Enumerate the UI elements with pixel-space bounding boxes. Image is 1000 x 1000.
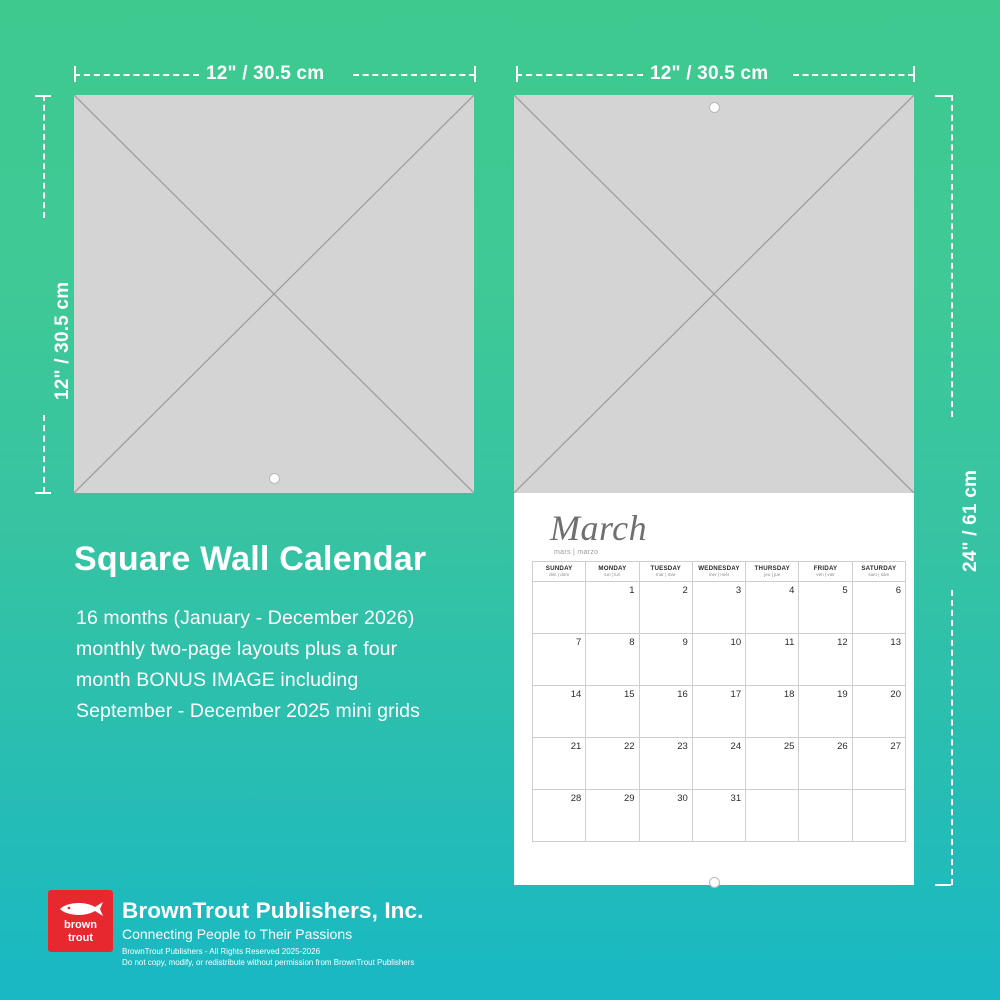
right-panel-punch-hole-icon [709, 102, 720, 113]
trout-fish-icon [57, 900, 105, 918]
day-number: 19 [837, 689, 848, 700]
right-height-cap-bottom [935, 884, 951, 886]
day-number: 2 [683, 585, 688, 596]
logo-word-brown: brown [64, 920, 97, 931]
left-width-cap-end [474, 66, 476, 82]
calendar-day-cell[interactable]: 27 [852, 738, 905, 790]
day-number: 28 [571, 793, 582, 804]
weekday-sub: mer | miér [693, 572, 745, 578]
day-number: 3 [736, 585, 741, 596]
calendar-weekday-saturday: SATURDAY sam | sám [852, 562, 905, 582]
left-width-dash-right [353, 74, 475, 76]
calendar-weekday-thursday: THURSDAY jeu | jue [746, 562, 799, 582]
calendar-day-cell[interactable]: 8 [586, 634, 639, 686]
calendar-day-cell[interactable]: 12 [799, 634, 852, 686]
calendar-day-cell[interactable]: 24 [692, 738, 745, 790]
day-number: 12 [837, 637, 848, 648]
day-number: 5 [842, 585, 847, 596]
calendar-day-cell[interactable]: 22 [586, 738, 639, 790]
day-number: 9 [683, 637, 688, 648]
day-number: 6 [896, 585, 901, 596]
calendar-day-cell[interactable] [533, 582, 586, 634]
calendar-week-row: 1 2 3 4 5 6 [533, 582, 906, 634]
day-number: 11 [785, 637, 795, 648]
calendar-day-cell[interactable]: 5 [799, 582, 852, 634]
calendar-weekday-monday: MONDAY lun | lun [586, 562, 639, 582]
right-width-dash-right [793, 74, 914, 76]
calendar-day-cell[interactable] [799, 790, 852, 842]
left-panel-punch-hole-icon [269, 473, 280, 484]
weekday-sub: jeu | jue [746, 572, 798, 578]
day-number: 8 [629, 637, 634, 648]
calendar-week-row: 7 8 9 10 11 12 13 [533, 634, 906, 686]
calendar-weekday-sunday: SUNDAY dim | dom [533, 562, 586, 582]
calendar-day-cell[interactable]: 1 [586, 582, 639, 634]
calendar-day-cell[interactable] [746, 790, 799, 842]
publisher-name: BrownTrout Publishers, Inc. [122, 898, 423, 924]
day-number: 30 [677, 793, 688, 804]
weekday-name: FRIDAY [799, 565, 851, 572]
description-line-3: month BONUS IMAGE including [76, 665, 358, 696]
description-line-1: 16 months (January - December 2026) [76, 603, 414, 634]
publisher-tagline: Connecting People to Their Passions [122, 926, 352, 942]
weekday-name: WEDNESDAY [693, 565, 745, 572]
calendar-day-cell[interactable]: 26 [799, 738, 852, 790]
calendar-week-row: 28 29 30 31 [533, 790, 906, 842]
weekday-sub: ven | vier [799, 572, 851, 578]
calendar-day-cell[interactable]: 15 [586, 686, 639, 738]
right-width-cap-end [913, 66, 915, 82]
right-height-dash-bottom [951, 590, 953, 885]
calendar-day-cell[interactable]: 3 [692, 582, 745, 634]
calendar-day-cell[interactable] [852, 790, 905, 842]
left-width-dash-left [74, 74, 199, 76]
product-spec-page: 12" / 30.5 cm 12" / 30.5 cm 12" / 30.5 c… [0, 0, 1000, 1000]
day-number: 20 [890, 689, 901, 700]
browntrout-logo[interactable]: brown trout [48, 890, 113, 952]
weekday-name: SUNDAY [533, 565, 585, 572]
day-number: 13 [890, 637, 901, 648]
page-title: Square Wall Calendar [74, 540, 426, 579]
calendar-day-cell[interactable]: 13 [852, 634, 905, 686]
calendar-day-cell[interactable]: 29 [586, 790, 639, 842]
left-image-panel [74, 95, 474, 493]
left-width-label: 12" / 30.5 cm [206, 63, 324, 85]
calendar-day-cell[interactable]: 9 [639, 634, 692, 686]
calendar-week-row: 21 22 23 24 25 26 27 [533, 738, 906, 790]
calendar-day-cell[interactable]: 19 [799, 686, 852, 738]
calendar-day-cell[interactable]: 2 [639, 582, 692, 634]
calendar-page: March mars | marzo SUNDAY dim | dom MOND… [514, 493, 914, 885]
calendar-week-row: 14 15 16 17 18 19 20 [533, 686, 906, 738]
weekday-sub: mar | mar [640, 572, 692, 578]
weekday-name: MONDAY [586, 565, 638, 572]
right-height-label: 24" / 61 cm [960, 470, 982, 572]
calendar-day-cell[interactable]: 11 [746, 634, 799, 686]
calendar-weekday-wednesday: WEDNESDAY mer | miér [692, 562, 745, 582]
right-height-cap-top [935, 95, 951, 97]
calendar-month-subtitle: mars | marzo [554, 549, 598, 556]
calendar-weekday-tuesday: TUESDAY mar | mar [639, 562, 692, 582]
day-number: 23 [677, 741, 688, 752]
right-width-label: 12" / 30.5 cm [650, 63, 768, 85]
left-height-label: 12" / 30.5 cm [52, 282, 74, 400]
day-number: 26 [837, 741, 848, 752]
right-height-dash-top [951, 95, 953, 417]
day-number: 4 [789, 585, 794, 596]
calendar-day-cell[interactable]: 28 [533, 790, 586, 842]
weekday-sub: dim | dom [533, 572, 585, 578]
calendar-day-cell[interactable]: 4 [746, 582, 799, 634]
day-number: 18 [784, 689, 795, 700]
day-number: 15 [624, 689, 635, 700]
weekday-sub: lun | lun [586, 572, 638, 578]
day-number: 7 [576, 637, 581, 648]
calendar-weekday-friday: FRIDAY ven | vier [799, 562, 852, 582]
left-height-dash-bottom [43, 415, 45, 493]
calendar-grid: SUNDAY dim | dom MONDAY lun | lun TUESDA… [532, 561, 906, 842]
day-number: 10 [731, 637, 742, 648]
day-number: 1 [629, 585, 634, 596]
calendar-punch-hole-icon [709, 877, 720, 888]
legal-line-1: BrownTrout Publishers - All Rights Reser… [122, 947, 414, 958]
day-number: 27 [890, 741, 901, 752]
day-number: 24 [731, 741, 742, 752]
left-height-cap-bottom [35, 492, 51, 494]
day-number: 14 [571, 689, 582, 700]
day-number: 25 [784, 741, 795, 752]
calendar-day-cell[interactable]: 14 [533, 686, 586, 738]
calendar-day-cell[interactable]: 23 [639, 738, 692, 790]
calendar-day-cell[interactable]: 21 [533, 738, 586, 790]
weekday-name: TUESDAY [640, 565, 692, 572]
weekday-name: THURSDAY [746, 565, 798, 572]
day-number: 31 [731, 793, 742, 804]
calendar-day-cell[interactable]: 20 [852, 686, 905, 738]
day-number: 16 [677, 689, 688, 700]
weekday-sub: sam | sám [853, 572, 905, 578]
calendar-day-cell[interactable]: 16 [639, 686, 692, 738]
calendar-day-cell[interactable]: 17 [692, 686, 745, 738]
legal-line-2: Do not copy, modify, or redistribute wit… [122, 958, 414, 969]
left-height-dash-top [43, 95, 45, 218]
right-image-panel [514, 95, 914, 493]
calendar-weekday-header-row: SUNDAY dim | dom MONDAY lun | lun TUESDA… [533, 562, 906, 582]
logo-word-trout: trout [68, 933, 93, 944]
day-number: 22 [624, 741, 635, 752]
day-number: 21 [571, 741, 582, 752]
right-width-dash-left [516, 74, 643, 76]
legal-notice: BrownTrout Publishers - All Rights Reser… [122, 947, 414, 968]
day-number: 29 [624, 793, 635, 804]
calendar-day-cell[interactable]: 10 [692, 634, 745, 686]
right-panel-cross-icon [514, 95, 914, 493]
calendar-day-cell[interactable]: 25 [746, 738, 799, 790]
calendar-month-title: March [550, 507, 647, 549]
weekday-name: SATURDAY [853, 565, 905, 572]
day-number: 17 [731, 689, 742, 700]
calendar-day-cell[interactable]: 18 [746, 686, 799, 738]
description-line-4: September - December 2025 mini grids [76, 696, 420, 727]
calendar-day-cell[interactable]: 30 [639, 790, 692, 842]
left-panel-cross-icon [74, 95, 474, 493]
description-line-2: monthly two-page layouts plus a four [76, 634, 397, 665]
calendar-day-cell[interactable]: 6 [852, 582, 905, 634]
calendar-day-cell[interactable]: 7 [533, 634, 586, 686]
calendar-day-cell[interactable]: 31 [692, 790, 745, 842]
